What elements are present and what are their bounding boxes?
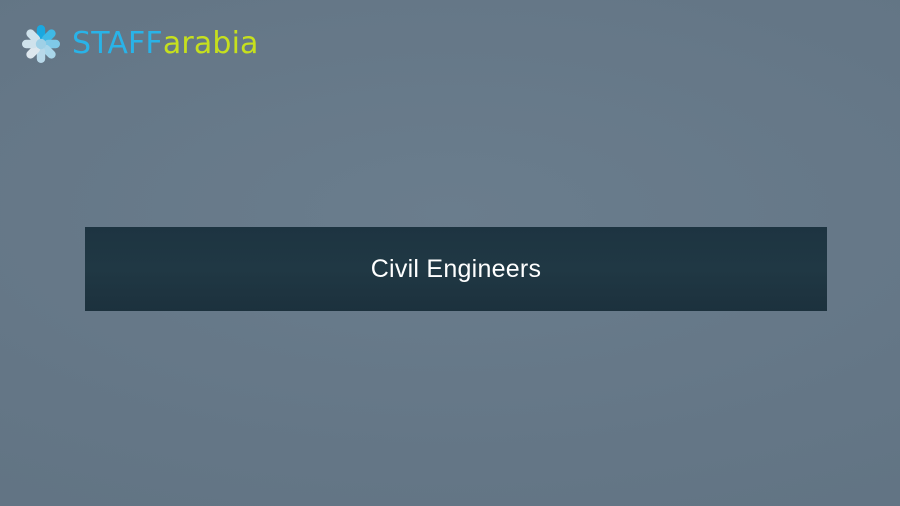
brand-wordmark: STAFF arabia xyxy=(72,29,259,59)
snowflake-burst-icon xyxy=(18,21,64,67)
wordmark-arabia: arabia xyxy=(163,29,259,59)
page-title: Civil Engineers xyxy=(371,257,542,282)
title-banner: Civil Engineers xyxy=(85,227,827,311)
brand-logo[interactable]: STAFF arabia xyxy=(18,20,268,68)
slide-canvas: STAFF arabia Civil Engineers xyxy=(0,0,900,506)
wordmark-staff: STAFF xyxy=(72,29,163,59)
